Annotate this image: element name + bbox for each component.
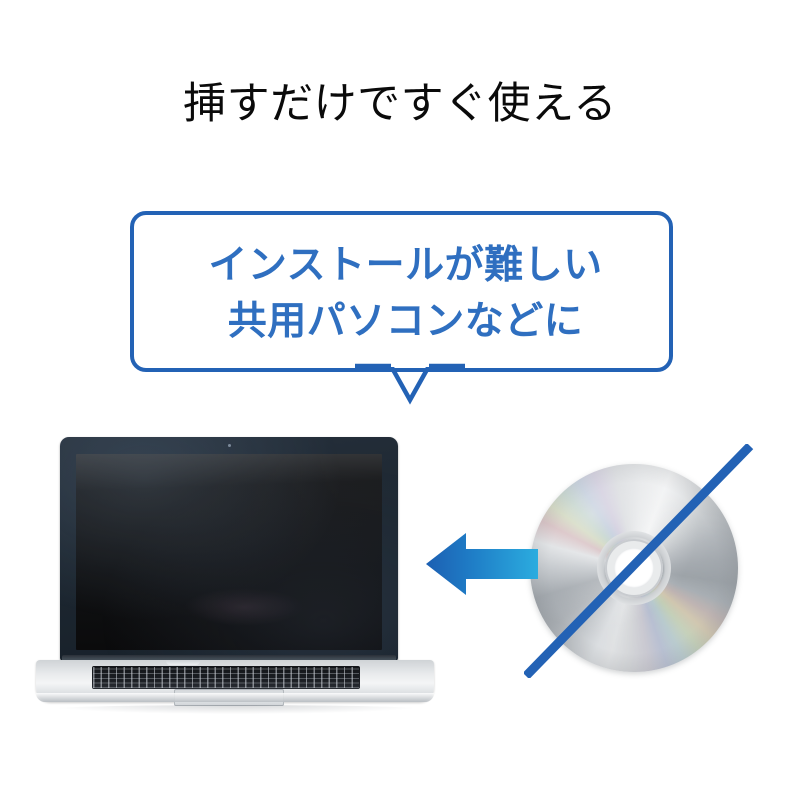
- callout-bubble: インストールが難しい 共用パソコンなどに: [130, 211, 673, 372]
- left-arrow-icon: [426, 528, 538, 600]
- laptop-trackpad: [174, 689, 284, 706]
- laptop-keyboard: [92, 666, 360, 689]
- callout-tail-icon: [355, 360, 465, 408]
- laptop-screen: [76, 454, 382, 650]
- laptop-illustration: [36, 437, 434, 713]
- disc-surface: [530, 464, 738, 672]
- webcam-icon: [228, 444, 231, 447]
- optical-disc-illustration: [530, 458, 750, 678]
- laptop-lid: [60, 437, 398, 661]
- disc-center-hole: [614, 548, 654, 588]
- promo-graphic: 挿すだけですぐ使える インストールが難しい 共用パソコンなどに: [0, 0, 800, 800]
- callout-line-1: インストールが難しい: [134, 238, 677, 294]
- laptop-shadow: [46, 705, 426, 714]
- laptop-lid-notch: [166, 660, 200, 665]
- callout-line-2: 共用パソコンなどに: [134, 294, 677, 350]
- page-title: 挿すだけですぐ使える: [0, 78, 800, 130]
- screen-glow: [184, 588, 304, 626]
- laptop-base: [36, 655, 434, 711]
- laptop-body: [36, 660, 434, 702]
